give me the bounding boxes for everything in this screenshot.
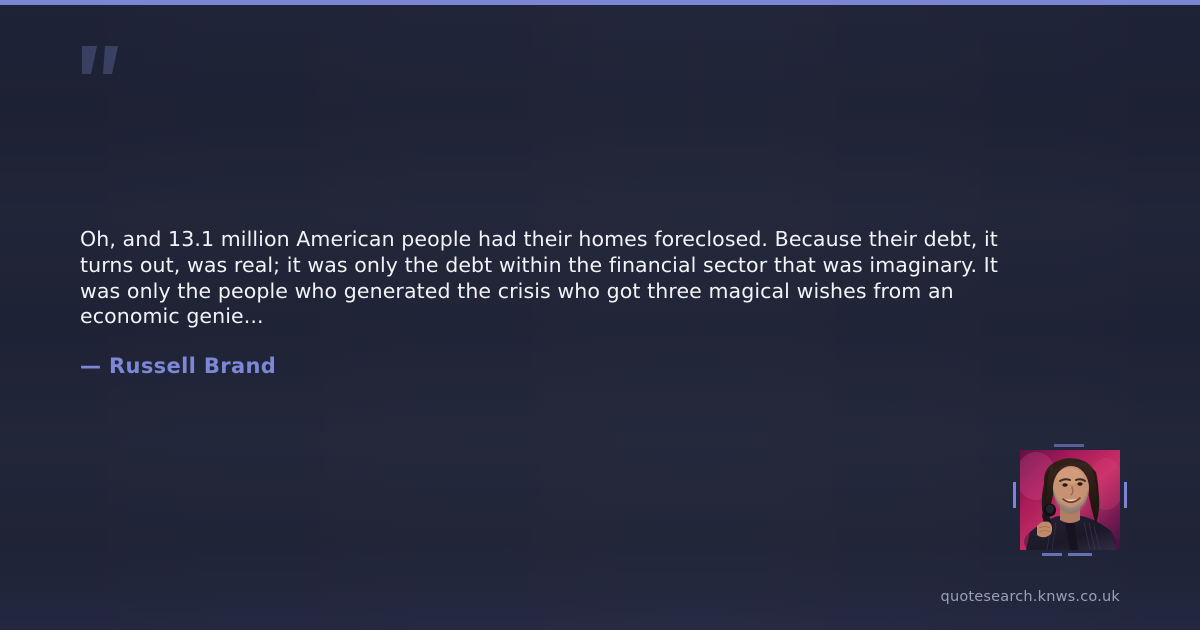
author-portrait [1020, 450, 1120, 550]
frame-tick-bottom-b [1068, 553, 1092, 556]
frame-tick-left [1013, 482, 1016, 508]
author-portrait-image [1020, 450, 1120, 550]
quote-text: Oh, and 13.1 million American people had… [80, 227, 1010, 330]
frame-tick-top [1054, 444, 1084, 447]
source-url: quotesearch.knws.co.uk [941, 589, 1120, 605]
frame-tick-right [1124, 482, 1127, 508]
quote-attribution: — Russell Brand [80, 354, 276, 378]
quote-card: Oh, and 13.1 million American people had… [0, 0, 1200, 630]
frame-tick-bottom-a [1042, 553, 1062, 556]
double-quote-icon [78, 30, 142, 90]
top-accent-bar [0, 0, 1200, 5]
